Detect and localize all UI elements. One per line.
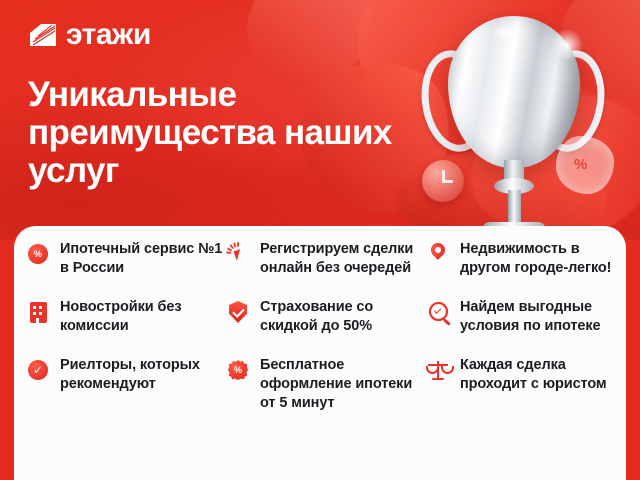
- features-column-2: Регистрируем сделки онлайн без очередей …: [226, 240, 426, 433]
- feature-label: Новостройки без комиссии: [60, 298, 226, 336]
- feature-label: Каждая сделка проходит с юристом: [460, 356, 626, 394]
- cursor-click-icon: [226, 242, 250, 266]
- feature-item[interactable]: Каждая сделка проходит с юристом: [426, 356, 626, 394]
- trophy-cup-graphic: %: [416, 8, 616, 240]
- search-check-icon: [426, 300, 450, 324]
- brand-logo[interactable]: этажи: [28, 20, 151, 50]
- brand-name: этажи: [66, 20, 151, 50]
- building-logo-icon: [28, 22, 58, 48]
- feature-label: Страхование со скидкой до 50%: [260, 298, 426, 336]
- check-circle-icon: ✓: [26, 358, 50, 382]
- feature-item[interactable]: Новостройки без комиссии: [26, 298, 226, 336]
- percent-seal-icon: %: [556, 136, 614, 194]
- feature-label: Ипотечный сервис №1 в России: [60, 240, 226, 278]
- feature-item[interactable]: Недвижимость в другом городе-легко!: [426, 240, 626, 278]
- trophy-highlight: [490, 26, 524, 40]
- feature-item[interactable]: Регистрируем сделки онлайн без очередей: [226, 240, 426, 278]
- trophy-stem: [508, 190, 521, 226]
- shield-check-icon: [226, 300, 250, 324]
- feature-item[interactable]: % Ипотечный сервис №1 в России: [26, 240, 226, 278]
- feature-item[interactable]: Найдем выгодные условия по ипотеке: [426, 298, 626, 336]
- feature-label: Бесплатное оформление ипотеки от 5 минут: [260, 356, 426, 413]
- percent-circle-icon: %: [26, 242, 50, 266]
- page-title: Уникальные преимущества наших услуг: [28, 76, 408, 190]
- feature-label: Недвижимость в другом городе-легко!: [460, 240, 626, 278]
- hero-banner: % этажи Уникальные преимущества наших ус…: [0, 0, 640, 240]
- percent-badge-icon: %: [226, 358, 250, 382]
- building-icon: [26, 300, 50, 324]
- feature-label: Риелторы, которых рекомендуют: [60, 356, 226, 394]
- promo-poster: % этажи Уникальные преимущества наших ус…: [0, 0, 640, 480]
- feature-item[interactable]: Страхование со скидкой до 50%: [226, 298, 426, 336]
- map-pin-icon: [426, 242, 450, 266]
- sparkle-glow: [544, 22, 590, 68]
- feature-item[interactable]: ✓ Риелторы, которых рекомендуют: [26, 356, 226, 394]
- scales-justice-icon: [426, 358, 450, 382]
- features-column-1: % Ипотечный сервис №1 в России Новострой…: [26, 240, 226, 433]
- feature-label: Найдем выгодные условия по ипотеке: [460, 298, 626, 336]
- features-card: % Ипотечный сервис №1 в России Новострой…: [14, 226, 626, 480]
- percent-symbol: %: [574, 156, 596, 174]
- features-column-3: Недвижимость в другом городе-легко! Найд…: [426, 240, 626, 433]
- features-columns: % Ипотечный сервис №1 в России Новострой…: [26, 240, 626, 433]
- feature-item[interactable]: % Бесплатное оформление ипотеки от 5 мин…: [226, 356, 426, 413]
- feature-label: Регистрируем сделки онлайн без очередей: [260, 240, 426, 278]
- clock-icon: [422, 160, 464, 202]
